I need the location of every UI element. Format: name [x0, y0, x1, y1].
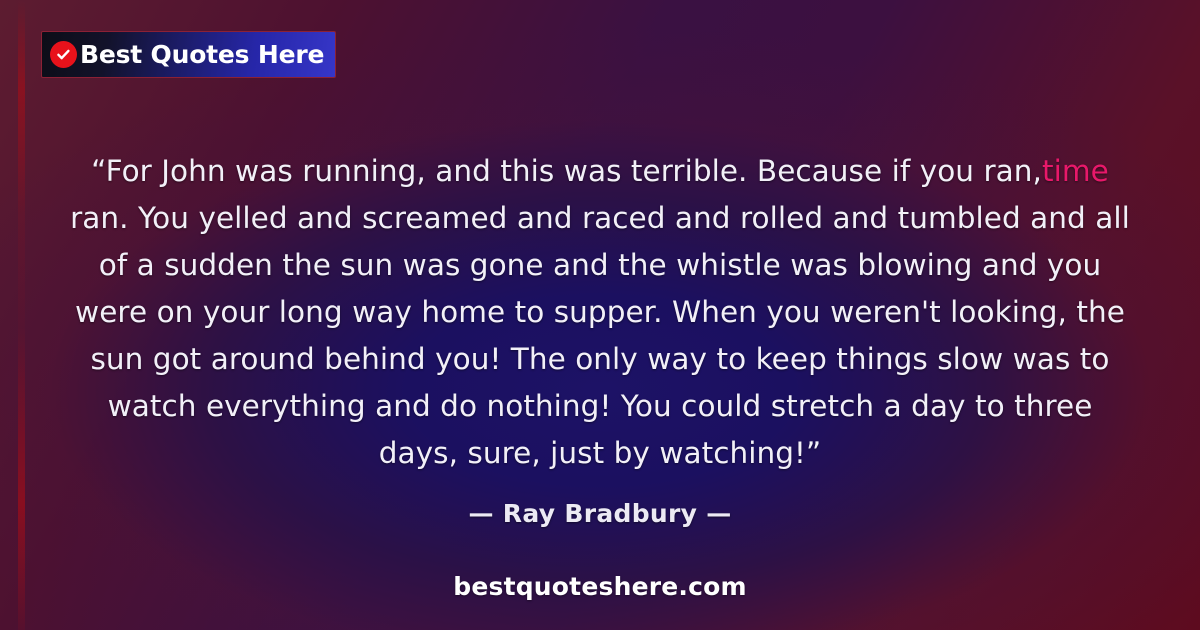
logo-badge[interactable]: Best Quotes Here: [41, 31, 336, 78]
quote-segment-before: For John was running, and this was terri…: [106, 154, 1042, 188]
logo-text: Best Quotes Here: [80, 40, 324, 69]
quote-author: — Ray Bradbury —: [70, 499, 1130, 528]
quote-card: Best Quotes Here “For John was running, …: [0, 0, 1200, 630]
quote-highlight-word: time: [1042, 154, 1109, 188]
check-circle-icon: [50, 41, 77, 68]
quote-body: “For John was running, and this was terr…: [70, 148, 1130, 528]
quote-text: “For John was running, and this was terr…: [70, 148, 1130, 477]
quote-segment-after: ran. You yelled and screamed and raced a…: [70, 201, 1130, 470]
quote-open-mark: “: [91, 154, 105, 188]
site-url[interactable]: bestquoteshere.com: [0, 572, 1200, 601]
quote-close-mark: ”: [806, 436, 821, 470]
accent-stripe-left: [18, 0, 25, 630]
